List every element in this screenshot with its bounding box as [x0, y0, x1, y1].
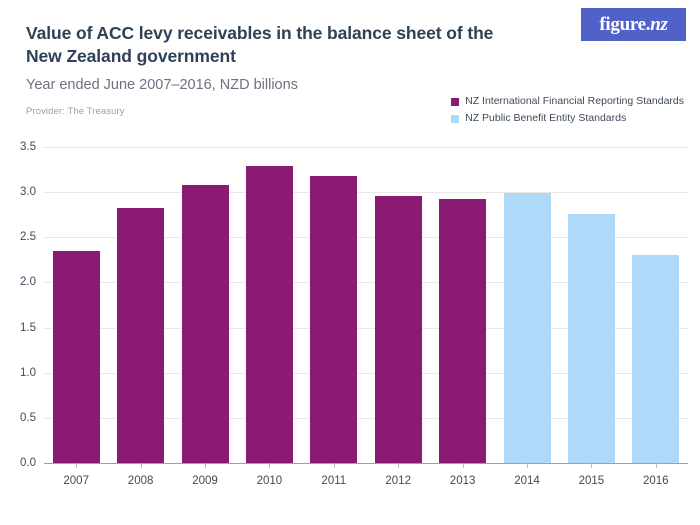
bar-2013[interactable] — [439, 199, 486, 463]
bar-2016[interactable] — [632, 255, 679, 463]
x-axis-tick — [76, 463, 77, 468]
bar-2009[interactable] — [182, 185, 229, 463]
x-axis-tick — [334, 463, 335, 468]
bar-2007[interactable] — [53, 251, 100, 463]
x-axis-tick-label: 2008 — [128, 475, 154, 487]
y-axis-tick-label: 2.5 — [0, 231, 36, 243]
x-axis-tick-label: 2007 — [63, 475, 89, 487]
x-axis-tick — [141, 463, 142, 468]
chart-plot-area: 0.00.51.01.52.02.53.03.52007200820092010… — [0, 0, 700, 525]
y-axis-tick-label: 3.0 — [0, 186, 36, 198]
bar-2012[interactable] — [375, 196, 422, 463]
x-axis-tick-label: 2010 — [257, 475, 283, 487]
bar-2015[interactable] — [568, 214, 615, 463]
x-axis-tick — [398, 463, 399, 468]
x-axis-tick — [527, 463, 528, 468]
bar-2011[interactable] — [310, 176, 357, 463]
y-axis-tick-label: 1.0 — [0, 367, 36, 379]
bar-2008[interactable] — [117, 208, 164, 463]
x-axis-tick — [205, 463, 206, 468]
x-axis-tick-label: 2015 — [579, 475, 605, 487]
y-axis-tick-label: 0.5 — [0, 412, 36, 424]
y-axis-tick-label: 0.0 — [0, 457, 36, 469]
y-axis-tick-label: 2.0 — [0, 276, 36, 288]
x-axis-tick — [269, 463, 270, 468]
x-axis-tick-label: 2011 — [321, 475, 346, 487]
x-axis-tick — [656, 463, 657, 468]
x-axis-tick — [463, 463, 464, 468]
x-axis-tick-label: 2014 — [514, 475, 540, 487]
bar-2014[interactable] — [504, 193, 551, 463]
bar-2010[interactable] — [246, 166, 293, 463]
y-axis-tick-label: 1.5 — [0, 322, 36, 334]
x-axis-tick-label: 2009 — [192, 475, 218, 487]
x-axis-tick-label: 2013 — [450, 475, 476, 487]
x-axis-tick-label: 2016 — [643, 475, 669, 487]
x-axis-tick — [591, 463, 592, 468]
y-axis-tick-label: 3.5 — [0, 141, 36, 153]
bars-container — [44, 0, 688, 525]
x-axis-tick-label: 2012 — [385, 475, 411, 487]
